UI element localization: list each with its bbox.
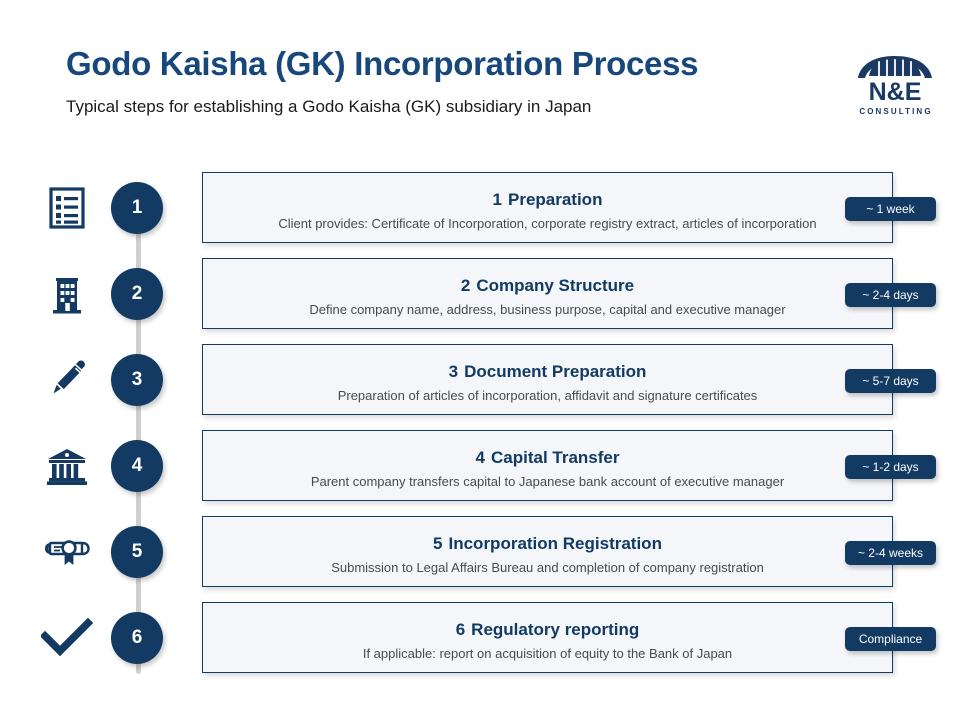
company-logo: N&E CONSULTING xyxy=(845,48,945,130)
step-title-text: Document Preparation xyxy=(464,362,646,381)
step-title-number: 1 xyxy=(493,190,502,209)
step-duration-badge: ~ 1 week xyxy=(845,197,936,221)
step-number-badge[interactable]: 6 xyxy=(111,612,163,664)
step-duration-badge: ~ 2-4 weeks xyxy=(845,541,936,565)
page-title: Godo Kaisha (GK) Incorporation Process xyxy=(66,44,826,84)
step-title: 1Preparation xyxy=(203,190,892,210)
step-title: 6Regulatory reporting xyxy=(203,620,892,640)
steps-list: 1 1Preparation Client provides: Certific… xyxy=(0,172,960,688)
step-title-number: 5 xyxy=(433,534,442,553)
bank-icon xyxy=(36,430,98,501)
logo-name: N&E xyxy=(845,79,945,105)
logo-tagline: CONSULTING xyxy=(845,107,945,116)
checkmark-icon xyxy=(36,602,98,673)
step-title-text: Preparation xyxy=(508,190,602,209)
step-title-number: 6 xyxy=(456,620,465,639)
step-title-text: Incorporation Registration xyxy=(449,534,662,553)
step-title: 4Capital Transfer xyxy=(203,448,892,468)
step-title-number: 3 xyxy=(449,362,458,381)
step-description: Parent company transfers capital to Japa… xyxy=(203,473,892,490)
step-row: 2 2Company Structure Define company name… xyxy=(0,258,960,344)
step-number-badge[interactable]: 3 xyxy=(111,354,163,406)
step-card[interactable]: 1Preparation Client provides: Certificat… xyxy=(202,172,893,243)
bridge-arch-icon xyxy=(856,48,934,80)
step-title-text: Company Structure xyxy=(476,276,634,295)
step-title: 2Company Structure xyxy=(203,276,892,296)
step-row: 5 5Incorporation Registration Submission… xyxy=(0,516,960,602)
step-duration-badge: ~ 5-7 days xyxy=(845,369,936,393)
pen-icon xyxy=(36,344,98,415)
step-number-badge[interactable]: 1 xyxy=(111,182,163,234)
step-card[interactable]: 6Regulatory reporting If applicable: rep… xyxy=(202,602,893,673)
step-card[interactable]: 4Capital Transfer Parent company transfe… xyxy=(202,430,893,501)
checklist-document-icon xyxy=(36,172,98,243)
step-duration-badge: Compliance xyxy=(845,627,936,651)
header: Godo Kaisha (GK) Incorporation Process T… xyxy=(66,44,826,118)
infographic-page: Godo Kaisha (GK) Incorporation Process T… xyxy=(0,0,960,720)
step-number-badge[interactable]: 2 xyxy=(111,268,163,320)
step-row: 4 4Capital Transfer Parent company trans… xyxy=(0,430,960,516)
step-row: 6 6Regulatory reporting If applicable: r… xyxy=(0,602,960,688)
step-row: 1 1Preparation Client provides: Certific… xyxy=(0,172,960,258)
step-card[interactable]: 2Company Structure Define company name, … xyxy=(202,258,893,329)
step-description: Preparation of articles of incorporation… xyxy=(203,387,892,404)
step-description: Define company name, address, business p… xyxy=(203,301,892,318)
office-building-icon xyxy=(36,258,98,329)
step-title-text: Regulatory reporting xyxy=(471,620,639,639)
step-duration-badge: ~ 1-2 days xyxy=(845,455,936,479)
step-title-number: 2 xyxy=(461,276,470,295)
step-row: 3 3Document Preparation Preparation of a… xyxy=(0,344,960,430)
step-description: Submission to Legal Affairs Bureau and c… xyxy=(203,559,892,576)
step-title: 5Incorporation Registration xyxy=(203,534,892,554)
step-title-number: 4 xyxy=(476,448,485,467)
page-subtitle: Typical steps for establishing a Godo Ka… xyxy=(66,96,826,118)
certificate-scroll-icon xyxy=(36,516,98,587)
step-title: 3Document Preparation xyxy=(203,362,892,382)
step-number-badge[interactable]: 5 xyxy=(111,526,163,578)
step-card[interactable]: 5Incorporation Registration Submission t… xyxy=(202,516,893,587)
step-card[interactable]: 3Document Preparation Preparation of art… xyxy=(202,344,893,415)
step-description: If applicable: report on acquisition of … xyxy=(203,645,892,662)
step-description: Client provides: Certificate of Incorpor… xyxy=(203,215,892,232)
step-title-text: Capital Transfer xyxy=(491,448,620,467)
step-number-badge[interactable]: 4 xyxy=(111,440,163,492)
step-duration-badge: ~ 2-4 days xyxy=(845,283,936,307)
